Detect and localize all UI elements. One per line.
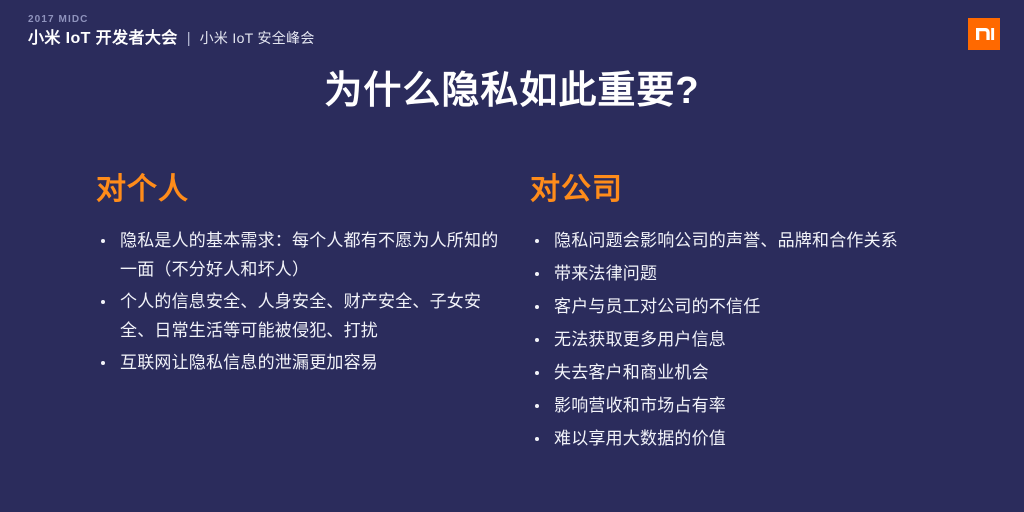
list-item: 难以享用大数据的价值 [530,424,980,453]
list-item: 隐私是人的基本需求：每个人都有不愿为人所知的一面（不分好人和坏人） [96,226,506,284]
list-item: 无法获取更多用户信息 [530,325,980,354]
page-title: 为什么隐私如此重要? [0,68,1024,114]
slide: 2017 MIDC 小米 IoT 开发者大会 | 小米 IoT 安全峰会 为什么… [0,0,1024,512]
list-item: 影响营收和市场占有率 [530,391,980,420]
list-item: 互联网让隐私信息的泄漏更加容易 [96,348,506,377]
list-item: 失去客户和商业机会 [530,358,980,387]
mi-logo-icon [968,18,1000,50]
list-item: 隐私问题会影响公司的声誉、品牌和合作关系 [530,226,980,255]
column-company: 对公司 隐私问题会影响公司的声誉、品牌和合作关系 带来法律问题 客户与员工对公司… [530,172,980,457]
event-sub-title: 小米 IoT 安全峰会 [200,28,315,48]
event-year-code: 2017 MIDC [28,14,588,26]
event-branding-header: 2017 MIDC 小米 IoT 开发者大会 | 小米 IoT 安全峰会 [28,14,588,54]
title-separator: | [187,29,191,49]
column-heading-individual: 对个人 [96,172,506,208]
column-individual: 对个人 隐私是人的基本需求：每个人都有不愿为人所知的一面（不分好人和坏人） 个人… [96,172,506,380]
list-item: 个人的信息安全、人身安全、财产安全、子女安全、日常生活等可能被侵犯、打扰 [96,287,506,345]
event-title-line: 小米 IoT 开发者大会 | 小米 IoT 安全峰会 [28,28,588,49]
list-item: 带来法律问题 [530,259,980,288]
bullet-list-company: 隐私问题会影响公司的声誉、品牌和合作关系 带来法律问题 客户与员工对公司的不信任… [530,226,980,453]
bullet-list-individual: 隐私是人的基本需求：每个人都有不愿为人所知的一面（不分好人和坏人） 个人的信息安… [96,226,506,377]
event-main-title: 小米 IoT 开发者大会 [28,29,178,49]
list-item: 客户与员工对公司的不信任 [530,292,980,321]
column-heading-company: 对公司 [530,172,980,208]
